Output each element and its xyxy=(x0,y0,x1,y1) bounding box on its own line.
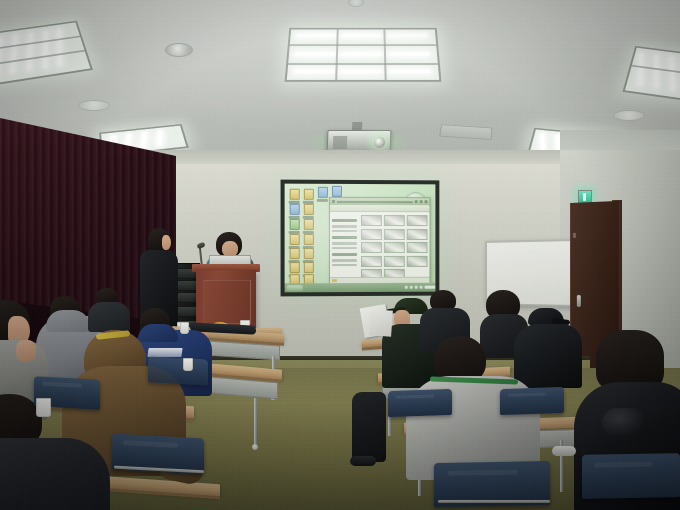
sidebar-section-header xyxy=(332,219,357,222)
paper-cup xyxy=(180,322,189,334)
torso xyxy=(0,438,110,510)
thumbnail-grid[interactable] xyxy=(359,212,429,284)
desktop-icon-my-computer[interactable] xyxy=(289,204,300,219)
lectern-panel xyxy=(203,280,251,324)
sidebar-item[interactable] xyxy=(332,229,357,232)
window-titlebar[interactable] xyxy=(330,198,430,205)
torso xyxy=(88,302,130,332)
tray-icon[interactable] xyxy=(415,286,418,289)
minimize-icon[interactable] xyxy=(415,200,418,203)
sidebar-item[interactable] xyxy=(332,247,357,250)
chair-highlight xyxy=(508,392,546,396)
chair xyxy=(582,453,680,499)
ceiling-light-panel xyxy=(622,46,680,106)
thumbnail-item[interactable] xyxy=(384,242,405,253)
explorer-sidebar[interactable] xyxy=(330,212,359,284)
thumbnail-item[interactable] xyxy=(384,215,405,226)
desktop-icon-folder[interactable] xyxy=(303,219,314,234)
lecture-hall-photo xyxy=(0,0,680,510)
start-button[interactable] xyxy=(287,285,303,291)
thumbnail-item[interactable] xyxy=(361,269,382,280)
jacket-sheen xyxy=(602,408,646,438)
tray-icon[interactable] xyxy=(405,286,408,289)
desktop-icon-folder[interactable] xyxy=(303,234,314,249)
face xyxy=(162,235,171,250)
door-hinge xyxy=(573,233,576,238)
desktop-icon-folder[interactable] xyxy=(303,248,314,263)
desktop-icon-folder[interactable] xyxy=(331,186,342,201)
ceiling-speaker-icon xyxy=(78,100,110,111)
desktop-icon-folder[interactable] xyxy=(289,234,300,249)
thumbnail-item[interactable] xyxy=(361,229,382,240)
ceiling-light-panel xyxy=(0,21,93,86)
thumbnail-item[interactable] xyxy=(384,269,405,280)
statusbar-icon xyxy=(332,279,337,282)
desktop-icon-folder[interactable] xyxy=(317,187,328,202)
desk-caster xyxy=(252,444,258,450)
seated-legs xyxy=(352,392,386,462)
system-badge-icon xyxy=(404,192,428,216)
wall-soffit xyxy=(140,150,590,164)
shoe-icon xyxy=(350,456,376,466)
sidebar-section-header xyxy=(332,253,357,256)
thumbnail-item[interactable] xyxy=(361,242,382,253)
tray-icon[interactable] xyxy=(420,286,423,289)
maximize-icon[interactable] xyxy=(420,200,423,203)
window-body xyxy=(330,212,430,284)
chair-highlight xyxy=(396,394,434,398)
projector-mount xyxy=(352,122,363,136)
projector-vent-icon xyxy=(333,136,347,149)
running-person-icon xyxy=(583,193,586,201)
jacket-hood xyxy=(138,324,178,342)
desktop-icon-folder[interactable] xyxy=(289,274,300,289)
taskbar-clock xyxy=(425,286,436,289)
chair xyxy=(500,387,564,415)
window-toolbar[interactable] xyxy=(330,205,430,212)
desktop-icon-folder[interactable] xyxy=(289,262,300,277)
door-handle-icon[interactable] xyxy=(577,295,581,307)
chair-frame-rail xyxy=(438,500,550,503)
thumbnail-item[interactable] xyxy=(384,255,405,266)
chair-highlight xyxy=(594,462,653,468)
sidebar-item[interactable] xyxy=(332,225,357,228)
paper-document xyxy=(369,309,393,336)
sidebar-item[interactable] xyxy=(332,259,357,262)
desk-leg xyxy=(254,398,257,446)
chair-highlight xyxy=(448,469,518,475)
downlight-icon xyxy=(165,43,193,57)
desktop-icon-folder[interactable] xyxy=(303,204,314,219)
system-tray[interactable] xyxy=(405,286,436,289)
projection-screen-surface xyxy=(285,184,436,293)
projector-lens-icon xyxy=(374,137,385,148)
ceiling-light-panel xyxy=(285,28,442,82)
desktop-icon-folder[interactable] xyxy=(303,189,314,204)
thumbnail-item[interactable] xyxy=(407,215,428,226)
thumbnail-item[interactable] xyxy=(384,229,405,240)
shoe-icon xyxy=(552,446,576,456)
desktop-icon-recycle-bin[interactable] xyxy=(289,219,300,234)
chair xyxy=(148,356,208,385)
ceiling-vent xyxy=(439,124,492,140)
thumbnail-item[interactable] xyxy=(407,229,428,240)
jacket-logo xyxy=(147,348,182,357)
paper-cup xyxy=(183,358,193,371)
window-title-text xyxy=(337,200,413,202)
hood xyxy=(46,310,90,332)
chair-highlight xyxy=(123,441,178,448)
paper-cup xyxy=(36,398,51,417)
sidebar-item[interactable] xyxy=(332,242,357,245)
thumbnail-item[interactable] xyxy=(361,215,382,226)
sidebar-item[interactable] xyxy=(332,264,357,267)
torso xyxy=(514,324,582,388)
window-statusbar xyxy=(330,277,430,283)
window-app-icon xyxy=(332,200,335,203)
sidebar-section-header xyxy=(332,236,357,239)
desktop-icon-folder[interactable] xyxy=(303,274,314,289)
smoke-detector-icon xyxy=(348,0,364,7)
thumbnail-item[interactable] xyxy=(407,255,428,266)
thumbnail-item[interactable] xyxy=(407,242,428,253)
chair xyxy=(388,389,452,417)
hand xyxy=(16,340,36,362)
close-icon[interactable] xyxy=(425,200,428,203)
ceiling-speaker-icon xyxy=(613,110,645,121)
tray-icon[interactable] xyxy=(410,286,413,289)
desktop-icon-folder[interactable] xyxy=(303,262,314,277)
desktop-icon-folder[interactable] xyxy=(289,189,300,204)
projection-screen xyxy=(281,180,440,297)
chair-highlight xyxy=(42,382,82,388)
taskbar[interactable] xyxy=(285,283,436,293)
file-explorer-window[interactable] xyxy=(329,197,431,284)
desktop-icon-folder[interactable] xyxy=(289,248,300,263)
thumbnail-item[interactable] xyxy=(361,255,382,266)
